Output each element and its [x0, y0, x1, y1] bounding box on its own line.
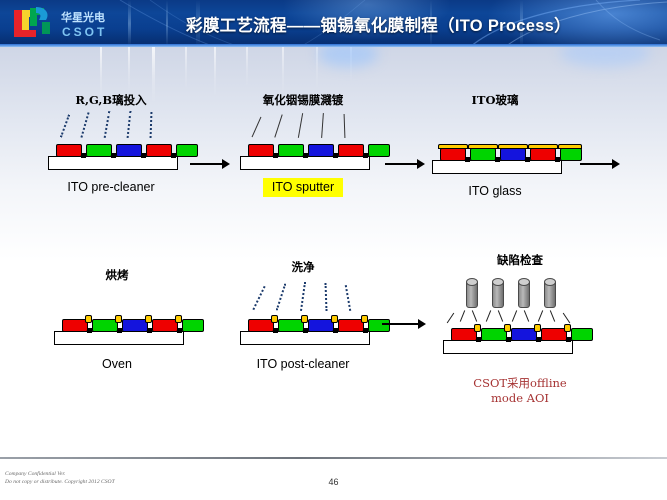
- step-cn-label: 缺陷检查: [430, 252, 610, 268]
- glass-substrate: [240, 156, 370, 170]
- color-filter-cell-red: [440, 148, 466, 161]
- ray-dotted: [345, 285, 351, 311]
- scan-ray: [538, 310, 543, 322]
- scan-ray: [563, 313, 571, 324]
- slide-header-bar: 彩膜工艺流程——铟锡氧化膜制程（ITO Process） 华星光电 CSOT: [0, 0, 667, 47]
- ray-dotted: [127, 111, 132, 138]
- bg-glow: [560, 47, 650, 67]
- aoi-sensor-icon: [544, 278, 556, 308]
- step-cn-label: 洗净: [228, 259, 378, 275]
- footer-divider: [0, 457, 667, 459]
- color-filter-cell-blue: [500, 148, 526, 161]
- ito-layer: [468, 144, 498, 149]
- ray-solid: [252, 117, 262, 138]
- scan-ray: [498, 310, 503, 322]
- glass-substrate: [443, 340, 573, 354]
- process-step-ito-post-cleaner: 洗净 ITO post-cleaner: [228, 259, 378, 371]
- ito-layer: [534, 324, 541, 332]
- aoi-caption-line2: mode AOI: [491, 391, 549, 405]
- ito-layer: [558, 144, 582, 149]
- process-step-ito-glass: ITO玻璃 ITO glass: [420, 92, 570, 198]
- color-filter-cell-green: [470, 148, 496, 161]
- scan-ray: [447, 313, 455, 324]
- page-number: 46: [0, 477, 667, 487]
- glass-substrate: [54, 331, 184, 345]
- aoi-sensor-icon: [492, 278, 504, 308]
- ito-layer: [361, 315, 368, 323]
- glass-substrate: [432, 160, 562, 174]
- ito-layer: [528, 144, 558, 149]
- bg-streak: [185, 47, 187, 91]
- color-filter-cell-green: [86, 144, 112, 157]
- cf-substrate-stack-ito-coated: [443, 324, 573, 354]
- glass-substrate: [48, 156, 178, 170]
- aoi-caption-line1: CSOT采用offline: [473, 376, 566, 390]
- ito-layer: [175, 315, 182, 323]
- ito-layer: [474, 324, 481, 332]
- color-filter-cell-green: [278, 144, 304, 157]
- ito-layer: [498, 144, 528, 149]
- step-en-label: ITO pre-cleaner: [36, 180, 186, 194]
- cf-substrate-stack-ito-coated: [432, 142, 562, 174]
- cf-substrate-stack: [48, 142, 178, 170]
- svg-text:华星光电: 华星光电: [61, 10, 105, 24]
- slide-footer: Company Confidential Ver. Do not copy or…: [0, 457, 667, 500]
- color-filter-cell-red: [530, 148, 556, 161]
- process-step-ito-sputter: 氧化铟锡膜濺镀 ITO sputter: [228, 92, 378, 197]
- aoi-sensor-icon: [518, 278, 530, 308]
- step-cn-label: R,G,B璃投入: [36, 92, 186, 108]
- ray-solid: [321, 113, 324, 138]
- bg-streak: [128, 47, 130, 93]
- color-filter-cell-green: [571, 328, 593, 341]
- bg-streak: [282, 47, 284, 95]
- color-filter-cell-green: [182, 319, 204, 332]
- ray-dotted: [150, 112, 153, 138]
- color-filter-cell-blue: [116, 144, 142, 157]
- ray-dotted: [300, 282, 306, 311]
- bg-streak: [214, 47, 216, 97]
- step-cn-label: 氧化铟锡膜濺镀: [228, 92, 378, 108]
- ito-layer: [564, 324, 571, 332]
- color-filter-cell-red: [56, 144, 82, 157]
- step-cn-label: ITO玻璃: [420, 92, 570, 108]
- ray-dotted: [80, 112, 89, 138]
- ito-layer: [504, 324, 511, 332]
- slide-body: R,G,B璃投入 ITO pre-cleaner 氧化: [0, 47, 667, 457]
- ito-layer: [145, 315, 152, 323]
- ito-layer: [438, 144, 468, 149]
- scan-ray: [524, 310, 529, 322]
- ray-dotted: [325, 283, 328, 311]
- cf-substrate-stack-ito-coated: [240, 315, 370, 345]
- scan-ray: [460, 310, 465, 322]
- scan-ray: [486, 310, 491, 322]
- color-filter-cell-blue: [308, 144, 334, 157]
- color-filter-cell-red: [146, 144, 172, 157]
- process-step-defect-inspection: 缺陷检查: [430, 252, 610, 406]
- ray-dotted: [104, 111, 111, 138]
- step-en-label-highlighted: ITO sputter: [263, 178, 343, 197]
- ray-dotted: [252, 286, 265, 310]
- csot-logo: 华星光电 CSOT: [6, 4, 116, 44]
- ito-layer: [301, 315, 308, 323]
- ray-solid: [344, 114, 346, 138]
- ito-layer: [85, 315, 92, 323]
- scan-ray: [512, 310, 517, 322]
- color-filter-cell-green: [368, 144, 390, 157]
- ray-solid: [274, 114, 282, 137]
- color-filter-cell-green: [176, 144, 198, 157]
- scan-ray: [550, 310, 555, 322]
- aoi-sensor-icon: [466, 278, 478, 308]
- ray-dotted: [60, 114, 70, 137]
- step-cn-label: 烘烤: [42, 267, 192, 283]
- ito-layer: [271, 315, 278, 323]
- color-filter-cell-red: [248, 144, 274, 157]
- svg-text:CSOT: CSOT: [62, 25, 107, 39]
- color-filter-cell-green: [560, 148, 582, 161]
- scan-ray: [472, 310, 477, 322]
- ito-layer: [115, 315, 122, 323]
- ray-dotted: [276, 283, 287, 310]
- cf-substrate-stack-ito-coated: [54, 315, 184, 345]
- ito-layer: [331, 315, 338, 323]
- process-step-oven: 烘烤 Oven: [42, 267, 192, 371]
- flow-arrow: [580, 159, 622, 169]
- cf-substrate-stack: [240, 142, 370, 170]
- bg-streak: [246, 47, 248, 87]
- step-en-label: ITO post-cleaner: [228, 357, 378, 371]
- step-en-label: ITO glass: [420, 184, 570, 198]
- flow-arrow: [382, 319, 430, 329]
- color-filter-cell-red: [338, 144, 364, 157]
- glass-substrate: [240, 331, 370, 345]
- bg-glow: [318, 47, 378, 67]
- ray-solid: [298, 113, 303, 138]
- flow-arrow: [190, 159, 232, 169]
- step-en-label: Oven: [42, 357, 192, 371]
- process-step-ito-pre-cleaner: R,G,B璃投入 ITO pre-cleaner: [36, 92, 186, 194]
